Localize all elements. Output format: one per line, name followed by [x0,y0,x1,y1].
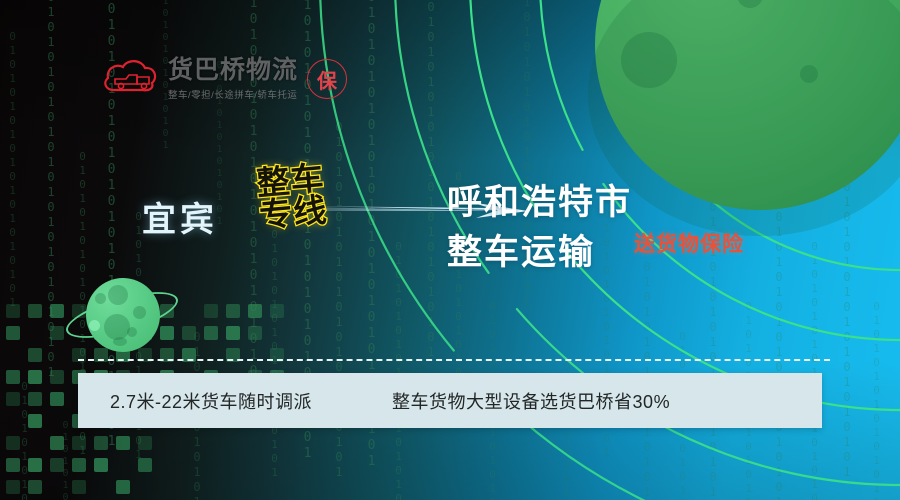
truck-in-cloud-icon [100,56,160,102]
destination-block: 呼和浩特市 整车运输 [447,178,632,277]
info-bar: 2.7米-22米货车随时调派 整车货物大型设备选货巴桥省30% [78,373,822,428]
destination-service: 整车运输 [447,228,632,278]
small-planet-graphic [70,272,174,358]
route-type-badge: 整车 专线 [255,162,328,232]
insurance-seal-icon: 保 [307,59,347,99]
brand-tagline: 整车/零担/长途拼车/轿车托运 [168,87,298,101]
insurance-tag: 送货物保险 [634,228,744,258]
info-item-savings: 整车货物大型设备选货巴桥省30% [392,388,670,414]
poster-canvas: 0101010101010101010101010101010101010101… [0,0,900,500]
info-item-fleet: 2.7米-22米货车随时调派 [110,388,312,414]
brand-name: 货巴桥物流 [168,57,298,83]
dashed-divider [78,359,830,361]
origin-city: 宜宾 [142,192,218,241]
brand-lockup: 货巴桥物流 整车/零担/长途拼车/轿车托运 保 [100,56,347,102]
large-planet-graphic [595,0,900,210]
destination-city: 呼和浩特市 [447,178,632,228]
route-badge-line-2: 专线 [258,194,329,232]
